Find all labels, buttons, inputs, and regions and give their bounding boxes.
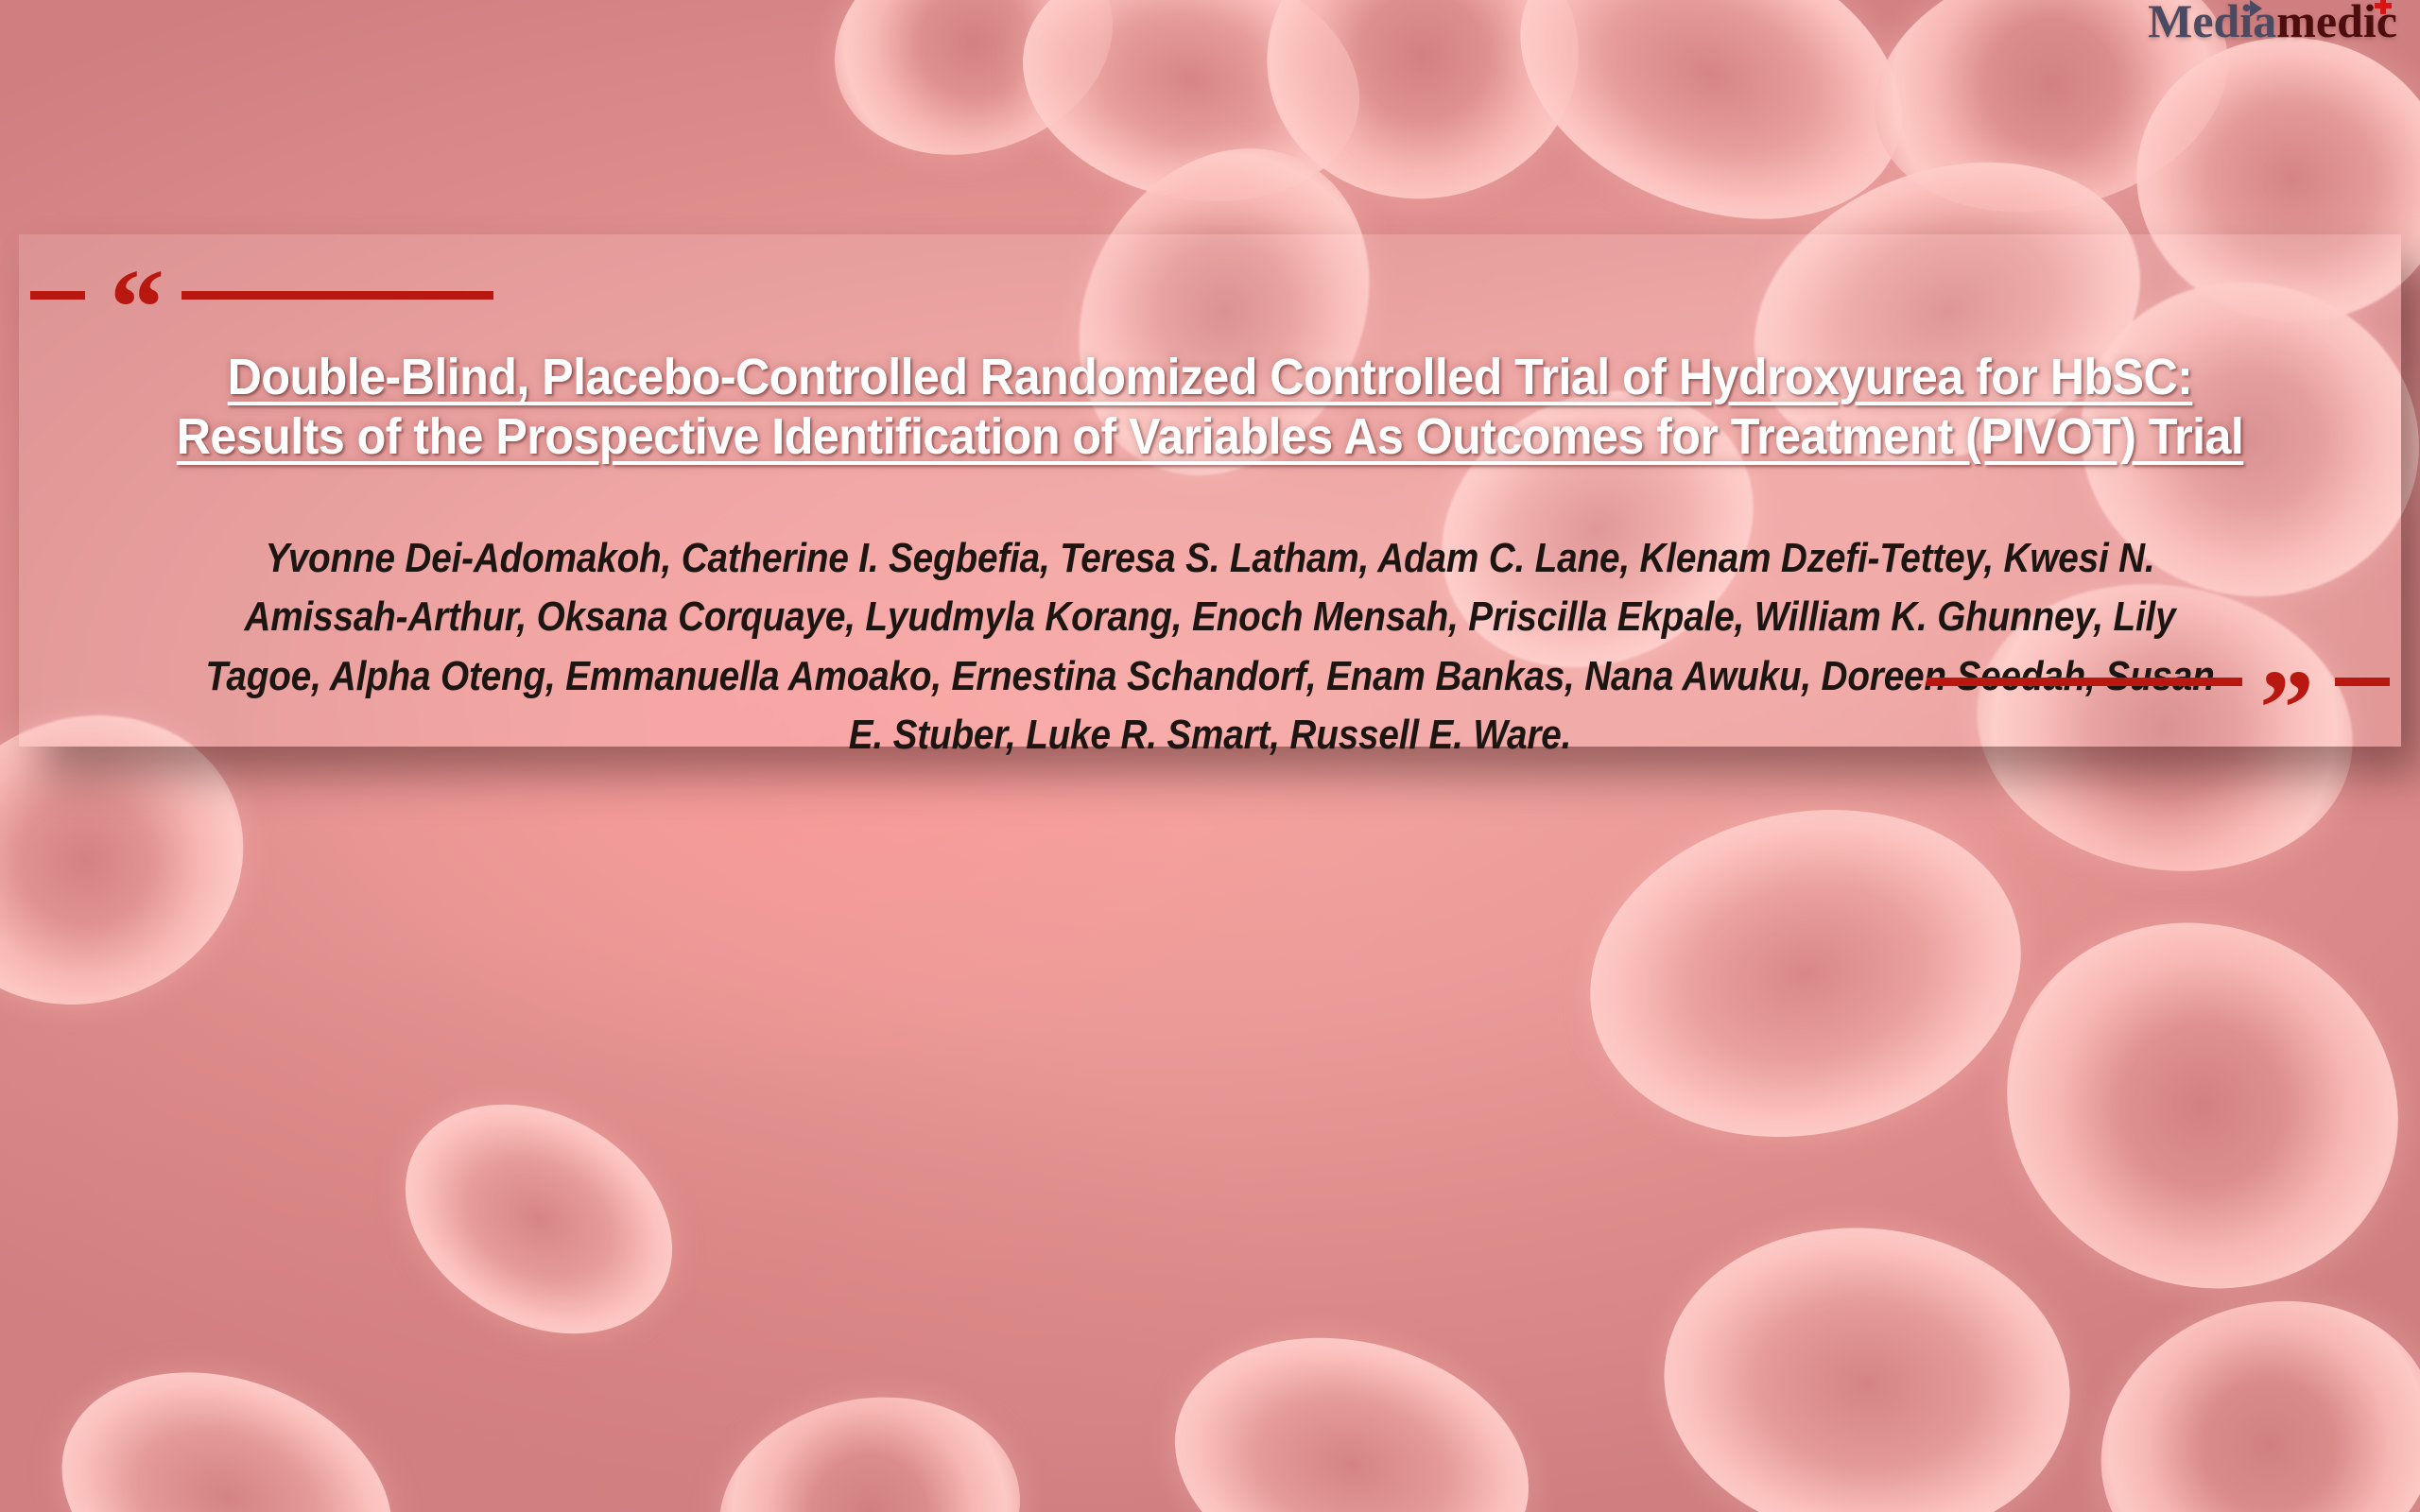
play-triangle-icon bbox=[2250, 0, 2262, 17]
medical-cross-icon bbox=[2375, 0, 2392, 14]
rule-dash-short bbox=[30, 291, 85, 300]
brand-part-media: Media bbox=[2148, 0, 2276, 47]
brand-logo: Mediamedic bbox=[2148, 0, 2397, 49]
rule-dash-short bbox=[2335, 678, 2390, 686]
rule-dash-long bbox=[1927, 678, 2242, 686]
page-title: Double-Blind, Placebo-Controlled Randomi… bbox=[147, 348, 2274, 466]
brand-part-medic: medic bbox=[2276, 0, 2397, 47]
quote-rule-top: “ bbox=[30, 282, 493, 308]
author-list: Yvonne Dei-Adomakoh, Catherine I. Segbef… bbox=[205, 529, 2215, 765]
quote-rule-bottom: ” bbox=[1927, 654, 2390, 709]
slide-canvas: Mediamedic “ Double-Blind, Placebo-Contr… bbox=[0, 0, 2420, 1512]
quote-card: “ Double-Blind, Placebo-Controlled Rando… bbox=[19, 234, 2401, 747]
rule-dash-long bbox=[181, 291, 493, 300]
